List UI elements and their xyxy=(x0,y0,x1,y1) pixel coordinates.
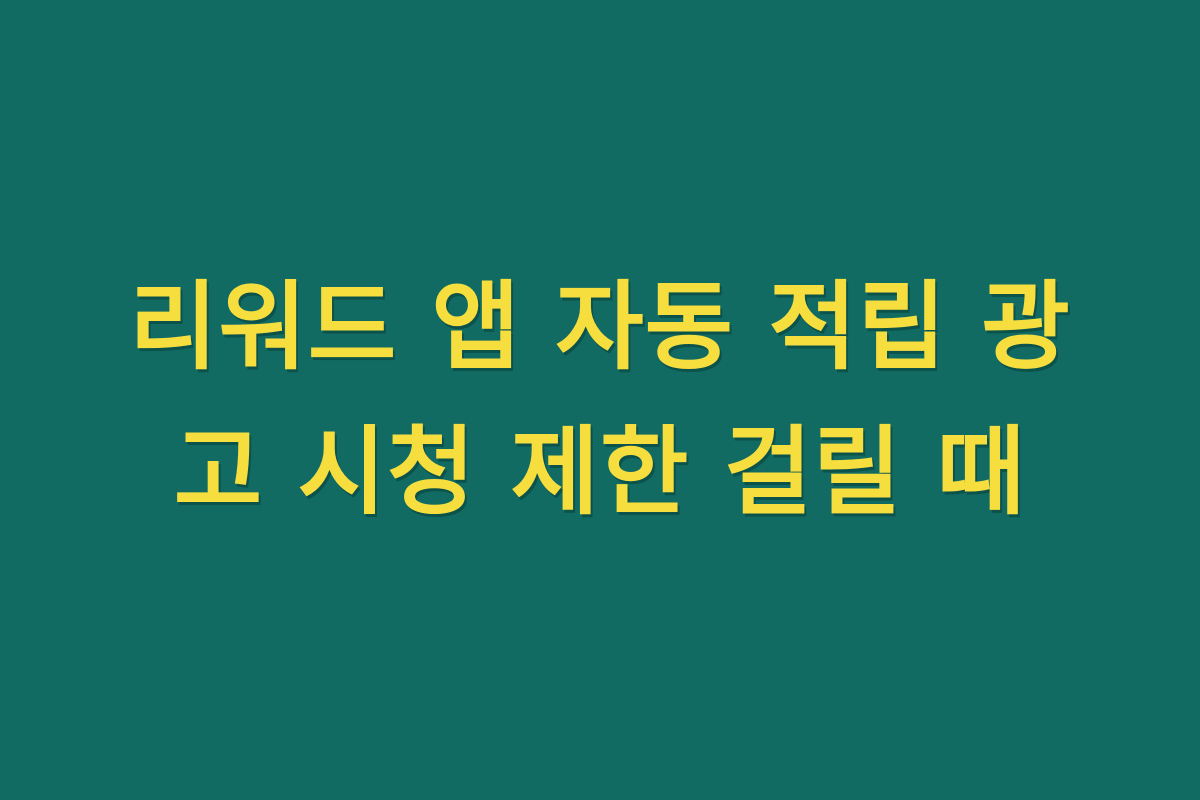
page-title: 리워드 앱 자동 적립 광 고 시청 제한 걸릴 때 xyxy=(95,255,1105,545)
title-line-2: 고 시청 제한 걸릴 때 xyxy=(95,400,1105,545)
title-line-1: 리워드 앱 자동 적립 광 xyxy=(95,255,1105,400)
title-card: 리워드 앱 자동 적립 광 고 시청 제한 걸릴 때 xyxy=(0,0,1200,800)
